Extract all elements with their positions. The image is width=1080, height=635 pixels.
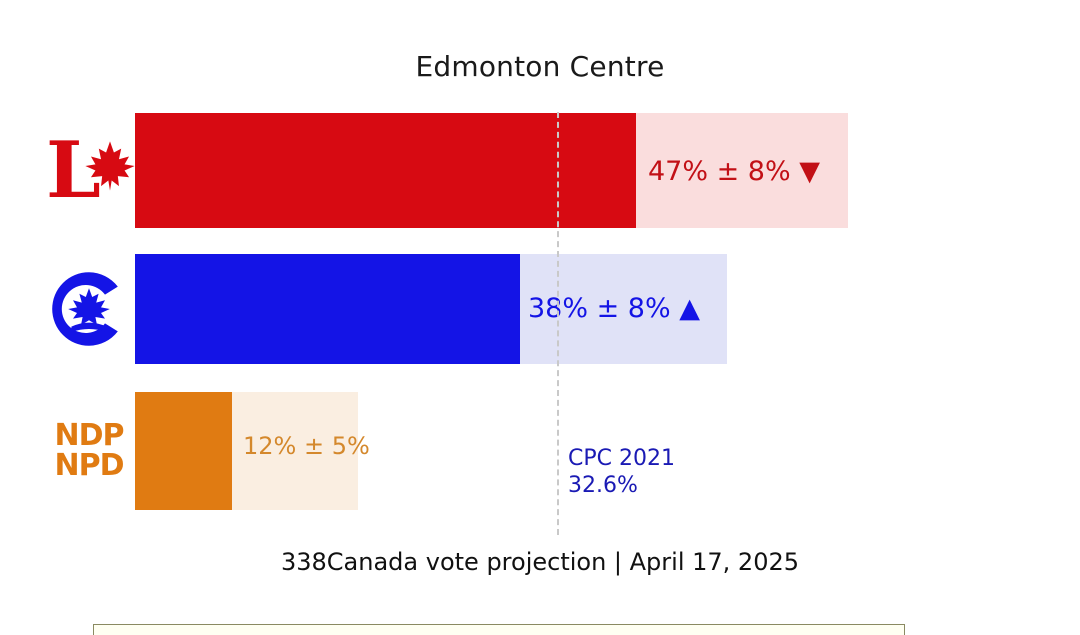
bar-label-ndp: 12% ± 5%	[243, 434, 370, 458]
reference-line-annotation: CPC 2021 32.6%	[568, 446, 675, 500]
bar-row-lpc: L 47% ± 8% ▼	[0, 113, 1080, 228]
ndp-logo-line-fr: NPD	[55, 451, 124, 481]
reference-line-cpc-2021	[557, 112, 559, 535]
liberal-party-logo: L	[43, 121, 135, 221]
bar-value-ndp	[135, 392, 232, 510]
ndp-logo-line-en: NDP	[55, 421, 124, 451]
plot-area: L 47% ± 8% ▼	[0, 0, 1080, 634]
bar-row-cpc: 38% ± 8% ▲	[0, 254, 1080, 364]
reference-line-value: 32.6%	[568, 473, 675, 500]
bottom-panel[interactable]	[93, 624, 905, 635]
ndp-logo: NDP NPD	[43, 412, 135, 490]
bar-value-cpc	[135, 254, 520, 364]
bar-value-lpc	[135, 113, 636, 228]
vote-projection-chart: Edmonton Centre L 47% ± 8% ▼	[0, 0, 1080, 634]
conservative-c-icon	[49, 269, 129, 349]
chart-footer-note: 338Canada vote projection | April 17, 20…	[0, 548, 1080, 576]
maple-leaf-icon	[82, 138, 138, 194]
bar-row-ndp: NDP NPD 12% ± 5%	[0, 392, 1080, 510]
bar-label-cpc: 38% ± 8% ▲	[528, 295, 700, 322]
bar-label-lpc: 47% ± 8% ▼	[648, 158, 820, 185]
conservative-party-logo	[43, 260, 135, 358]
reference-line-label: CPC 2021	[568, 446, 675, 473]
